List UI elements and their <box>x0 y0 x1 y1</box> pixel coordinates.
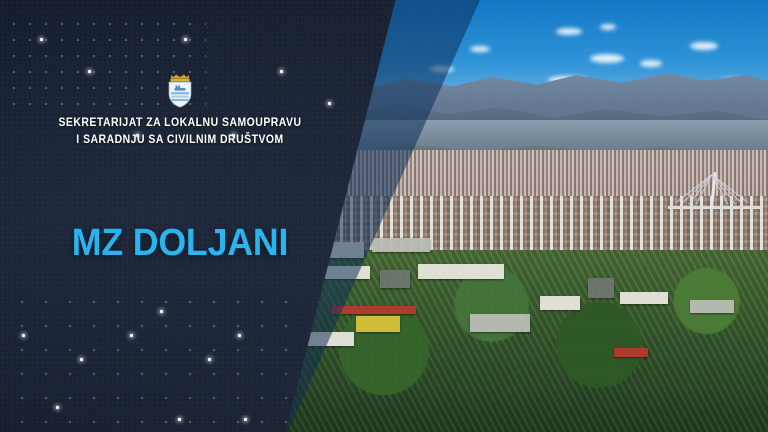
coat-of-arms-shield-icon <box>165 74 195 108</box>
bridge-deck <box>668 206 760 209</box>
hero-banner: SEKRETARIJAT ZA LOKALNU SAMOUPRAVU I SAR… <box>0 0 768 432</box>
organization-name: SEKRETARIJAT ZA LOKALNU SAMOUPRAVU I SAR… <box>18 114 342 148</box>
cloud-icon <box>556 28 582 35</box>
cloud-icon <box>470 46 490 52</box>
cloud-icon <box>640 60 662 67</box>
organization-line-2: I SARADNJU SA CIVILNIM DRUŠTVOM <box>18 131 342 148</box>
page-title: MZ DOLJANI <box>11 222 349 265</box>
cloud-icon <box>600 24 616 30</box>
banner-content: SEKRETARIJAT ZA LOKALNU SAMOUPRAVU I SAR… <box>0 0 360 432</box>
cloud-icon <box>590 54 624 63</box>
millennium-bridge <box>668 172 760 220</box>
cloud-icon <box>690 42 718 50</box>
organization-line-1: SEKRETARIJAT ZA LOKALNU SAMOUPRAVU <box>18 114 342 131</box>
